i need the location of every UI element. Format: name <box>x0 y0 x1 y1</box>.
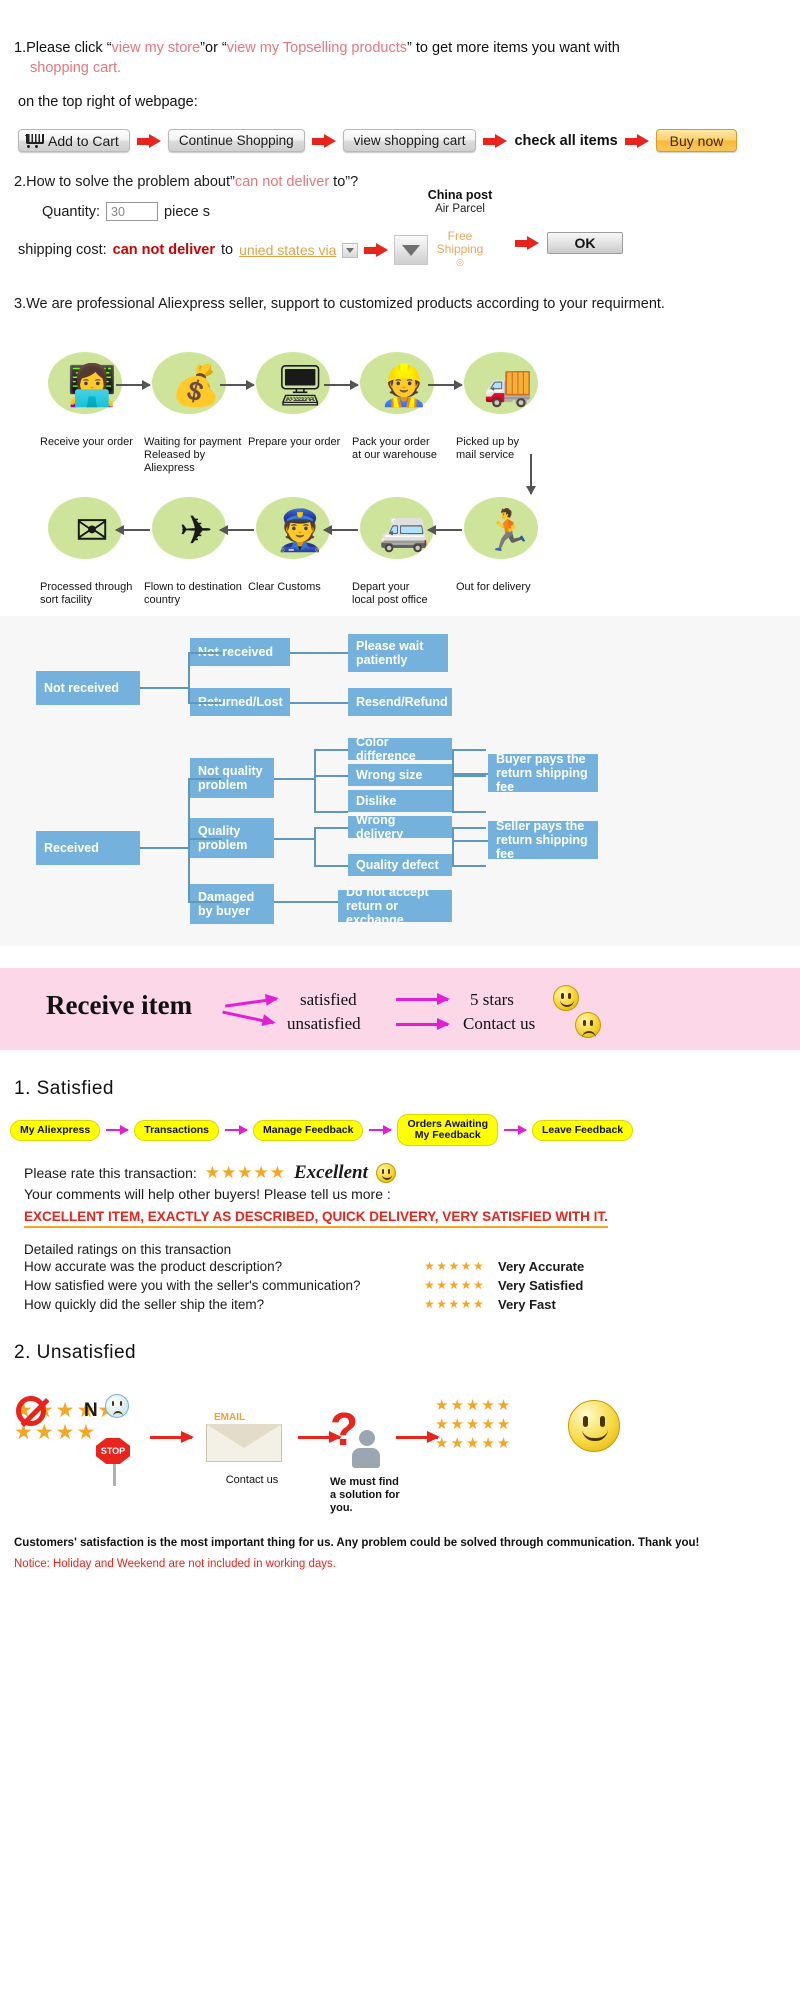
flow-connector <box>314 775 348 777</box>
section-2-number: 2. <box>14 174 26 190</box>
flow-connector <box>188 838 222 840</box>
magenta-arrow-3 <box>396 998 448 1001</box>
feedback-step-chip[interactable]: Transactions <box>134 1120 219 1141</box>
feedback-step-chip[interactable]: Manage Feedback <box>253 1120 363 1141</box>
flow-connector <box>314 827 316 865</box>
contact-us-label: Contact us <box>463 1014 535 1034</box>
flow-connector <box>452 749 486 751</box>
stop-label: STOP <box>96 1438 130 1464</box>
arrow-left-icon <box>428 529 462 531</box>
excellent-smiley-icon <box>376 1163 396 1183</box>
holiday-notice: Notice: Holiday and Weekend are not incl… <box>0 1558 800 1570</box>
process-step-caption: Pack your order at our warehouse <box>352 436 456 462</box>
rating-stars[interactable]: ★★★★★ <box>424 1257 498 1276</box>
process-step-caption: Depart your local post office <box>352 581 456 607</box>
receive-item-banner: Receive item satisfied unsatisfied 5 sta… <box>0 968 800 1050</box>
section-1-line-1: 1.Please click “view my store”or “view m… <box>0 38 800 58</box>
rate-label: Please rate this transaction: <box>24 1165 197 1181</box>
add-to-cart-label: Add to Cart <box>48 133 119 149</box>
solution-caption: We must find a solution for you. <box>330 1476 430 1515</box>
review-text: EXCELLENT ITEM, EXACTLY AS DESCRIBED, QU… <box>24 1209 608 1228</box>
section-1-text-b: ” to get more items you want with <box>407 40 620 56</box>
flow-node-not-received-root: Not received <box>36 671 140 705</box>
rating-question: How accurate was the product description… <box>24 1257 424 1276</box>
process-step-art: 🚐 <box>352 481 456 581</box>
arrow-right-icon <box>220 384 254 386</box>
flow-connector <box>290 702 348 704</box>
email-tab-label: EMAIL <box>214 1412 245 1423</box>
arrow-down-icon <box>526 486 536 495</box>
five-star-grid: ★★★★★ ★★★★★ ★★★★★ <box>435 1396 555 1453</box>
delivery-van-icon: 🚐 <box>379 511 429 551</box>
flow-node-wrong-size: Wrong size <box>348 764 452 786</box>
process-step-art: 👮 <box>248 481 352 581</box>
shipping-cost-label: shipping cost: <box>18 242 107 258</box>
flow-connector <box>140 847 190 849</box>
quantity-input[interactable]: 30 <box>106 202 158 221</box>
flow-connector <box>290 652 348 654</box>
arrow-right-icon <box>116 384 150 386</box>
flow-node-color-difference: Color difference <box>348 738 452 760</box>
section-2-q-pre: How to solve the problem about” <box>26 174 235 190</box>
process-step-caption: Waiting for payment Released by Aliexpre… <box>144 436 248 475</box>
process-step: 🏃Out for delivery <box>456 481 560 607</box>
flow-connector <box>452 827 486 829</box>
big-smiley-icon <box>568 1400 620 1452</box>
arrow-right-icon <box>428 384 462 386</box>
arrow-right-icon-1 <box>137 134 161 148</box>
flow-connector <box>188 652 222 654</box>
red-arrow-to-email <box>150 1436 192 1439</box>
rate-transaction-line: Please rate this transaction: ★★★★★ Exce… <box>24 1162 800 1184</box>
flow-connector <box>274 838 314 840</box>
section-3-text: 3.We are professional Aliexpress seller,… <box>0 296 800 312</box>
rating-label: Very Accurate <box>498 1257 584 1276</box>
satisfied-section: 1. Satisfied My AliexpressTransactionsMa… <box>0 1078 800 1314</box>
flow-connector <box>452 775 486 777</box>
section-2-q-post: to”? <box>329 174 358 190</box>
process-step: ✉Processed through sort facility <box>40 481 144 607</box>
flow-connector <box>274 901 338 903</box>
happy-face-icon <box>553 985 579 1011</box>
comments-label: Your comments will help other buyers! Pl… <box>24 1186 800 1202</box>
banner-title: Receive item <box>46 990 192 1021</box>
feedback-step-chip[interactable]: My Aliexpress <box>10 1120 100 1141</box>
magenta-arrow-2 <box>222 1011 273 1025</box>
flow-connector <box>452 773 488 775</box>
process-step-art: 🚚 <box>456 336 560 436</box>
support-person-icon <box>352 1430 382 1466</box>
quantity-label: Quantity: <box>42 204 100 220</box>
five-stars-label: 5 stars <box>470 990 514 1010</box>
arrow-right-icon-3 <box>483 134 507 148</box>
person-at-computer-icon: 👩‍💻 <box>67 366 117 406</box>
flow-node-please-wait: Please wait patiently <box>348 634 448 672</box>
section-2-delivery-problem: 2.How to solve the problem about”can not… <box>0 174 800 278</box>
view-my-store-link[interactable]: view my store <box>112 40 201 56</box>
process-down-connector <box>530 454 532 494</box>
process-step: 💰Waiting for payment Released by Aliexpr… <box>144 336 248 475</box>
flow-node-seller-pays: Seller pays the return shipping fee <box>488 821 598 859</box>
magenta-arrow-icon <box>504 1129 526 1131</box>
air-parcel-label: Air Parcel <box>418 203 502 215</box>
worried-face-icon <box>105 1394 129 1418</box>
unsatisfied-heading: 2. Unsatisfied <box>0 1342 800 1364</box>
money-bag-icon: 💰 <box>171 366 221 406</box>
flow-node-dislike: Dislike <box>348 790 452 812</box>
flow-node-quality-defect: Quality defect <box>348 854 452 876</box>
rating-label: Very Satisfied <box>498 1276 583 1295</box>
detailed-ratings-list: How accurate was the product description… <box>24 1257 800 1314</box>
process-top-row: 👩‍💻Receive your order💰Waiting for paymen… <box>0 336 800 475</box>
process-step-art: 👷 <box>352 336 456 436</box>
airplane-icon: ✈ <box>179 511 213 551</box>
view-shopping-cart-button[interactable]: view shopping cart <box>343 129 477 152</box>
returns-flowchart: Not receivedNot receivedReturned/LostPle… <box>0 616 800 946</box>
process-step: 🚚Picked up by mail service <box>456 336 560 475</box>
section-1-number: 1. <box>14 40 26 56</box>
flow-node-received-root: Received <box>36 831 140 865</box>
flow-connector <box>188 778 222 780</box>
courier-running-icon: 🏃 <box>483 511 533 551</box>
buy-now-button[interactable]: Buy now <box>656 129 738 152</box>
stop-sign-icon: STOP <box>96 1438 132 1486</box>
process-step-art: 👩‍💻 <box>40 336 144 436</box>
process-step: 👷Pack your order at our warehouse <box>352 336 456 475</box>
arrow-right-icon <box>324 384 358 386</box>
promo-page: 1.Please click “view my store”or “view m… <box>0 0 800 1570</box>
quote-separator: ”or “ <box>200 40 227 56</box>
rating-question: How quickly did the seller ship the item… <box>24 1295 424 1314</box>
mail-truck-icon: 🚚 <box>483 366 533 406</box>
detailed-rating-row: How accurate was the product description… <box>24 1257 800 1276</box>
rating-label: Very Fast <box>498 1295 556 1314</box>
check-all-items-label[interactable]: check all items <box>514 133 617 149</box>
worker-packing-icon: 👷 <box>379 366 429 406</box>
section-3-number: 3. <box>14 296 26 312</box>
arrow-right-icon-4 <box>625 134 649 148</box>
process-step-art: ✈ <box>144 481 248 581</box>
section-2-question: 2.How to solve the problem about”can not… <box>0 174 800 190</box>
section-1-line-3: on the top right of webpage: <box>0 92 800 112</box>
process-step-caption: Out for delivery <box>456 581 560 594</box>
shipping-label: Shipping <box>418 243 502 256</box>
flow-connector <box>452 865 486 867</box>
flow-node-damaged-by-buyer: Damaged by buyer <box>190 884 274 924</box>
arrow-right-icon-2 <box>312 134 336 148</box>
piece-label: piece s <box>164 204 210 220</box>
process-step-caption: Picked up by mail service <box>456 436 560 462</box>
unsatisfied-graphic: ★★★★★ ★★★★ N STOP EMAIL Contact us ? <box>0 1378 800 1528</box>
flow-connector <box>188 778 190 903</box>
magenta-arrow-icon <box>225 1129 247 1131</box>
flow-connector <box>188 652 190 704</box>
flow-connector <box>274 778 314 780</box>
flow-node-no-return: Do not accept return or exchange <box>338 890 452 922</box>
shipping-process-diagram: 👩‍💻Receive your order💰Waiting for paymen… <box>0 336 800 616</box>
china-post-label: China post <box>418 188 502 202</box>
continue-shopping-button[interactable]: Continue Shopping <box>168 129 305 152</box>
email-envelope-icon: EMAIL <box>206 1412 282 1462</box>
magenta-arrow-4 <box>396 1023 448 1026</box>
computer-icon: 🖥 <box>275 366 326 406</box>
contact-us-caption: Contact us <box>212 1474 292 1487</box>
process-step: ✈Flown to destination country <box>144 481 248 607</box>
flow-connector <box>314 827 348 829</box>
process-step-art: ✉ <box>40 481 144 581</box>
process-step-art: 🖥 <box>248 336 352 436</box>
red-arrow-to-stars <box>396 1436 438 1439</box>
chevron-down-icon-small <box>346 248 354 253</box>
arrow-right-icon-5 <box>364 243 388 257</box>
free-shipping-block: Free Shipping ◎ <box>418 230 502 269</box>
flow-connector <box>314 749 348 751</box>
detailed-rating-row: How quickly did the seller ship the item… <box>24 1295 800 1314</box>
flow-node-wrong-delivery: Wrong delivery <box>348 816 452 838</box>
transaction-stars[interactable]: ★★★★★ <box>205 1163 286 1183</box>
flow-connector <box>452 749 454 811</box>
shipping-to-label: to <box>221 242 233 258</box>
flow-connector <box>452 827 454 865</box>
ok-row: OK <box>515 232 623 254</box>
rating-block: Please rate this transaction: ★★★★★ Exce… <box>0 1162 800 1314</box>
process-step-art: 🏃 <box>456 481 560 581</box>
rating-stars[interactable]: ★★★★★ <box>424 1276 498 1295</box>
flow-connector <box>452 811 486 813</box>
quantity-row: Quantity: 30 piece s <box>0 202 800 221</box>
feedback-steps-row: My AliexpressTransactionsManage Feedback… <box>0 1114 800 1146</box>
section-3-body: We are professional Aliexpress seller, s… <box>26 296 665 312</box>
arrow-right-icon-6 <box>515 236 539 250</box>
flow-node-resend-refund: Resend/Refund <box>348 688 452 716</box>
process-step-caption: Processed through sort facility <box>40 581 144 607</box>
section-1-shopping-cart-highlight: shopping cart. <box>0 58 800 78</box>
magenta-arrow-1 <box>225 997 277 1007</box>
process-step: 👩‍💻Receive your order <box>40 336 144 475</box>
flow-connector <box>314 749 316 811</box>
satisfied-heading: 1. Satisfied <box>0 1078 800 1100</box>
info-dot-icon: ◎ <box>418 256 502 269</box>
no-entry-icon <box>16 1396 46 1426</box>
process-step: 👮Clear Customs <box>248 481 352 607</box>
shopping-cart-icon <box>24 133 43 148</box>
flow-connector <box>140 687 190 689</box>
rating-stars[interactable]: ★★★★★ <box>424 1295 498 1314</box>
arrow-left-icon <box>324 529 358 531</box>
can-not-deliver-highlight: can not deliver <box>235 174 329 190</box>
process-step: 🖥Prepare your order <box>248 336 352 475</box>
no-letter-label: N <box>84 1400 98 1422</box>
country-link[interactable]: unied states via <box>239 242 336 258</box>
mail-sorting-icon: ✉ <box>75 511 109 551</box>
view-topselling-link[interactable]: view my Topselling products <box>227 40 407 56</box>
unsatisfied-label: unsatisfied <box>287 1014 361 1034</box>
flow-connector <box>188 901 222 903</box>
section-1-shopping-cart: 1.Please click “view my store”or “view m… <box>0 0 800 152</box>
detailed-ratings-heading: Detailed ratings on this transaction <box>24 1242 800 1257</box>
feedback-step-chip[interactable]: Orders Awaiting My Feedback <box>397 1114 498 1146</box>
flow-connector <box>314 811 348 813</box>
detailed-rating-row: How satisfied were you with the seller's… <box>24 1276 800 1295</box>
section-1-text-a: Please click <box>26 40 107 56</box>
process-step: 🚐Depart your local post office <box>352 481 456 607</box>
feedback-step-chip[interactable]: Leave Feedback <box>532 1120 633 1141</box>
process-step-caption: Receive your order <box>40 436 144 449</box>
cart-flow-row: Add to Cart Continue Shopping view shopp… <box>0 129 800 152</box>
customs-officer-icon: 👮 <box>275 511 325 551</box>
unsatisfied-section: 2. Unsatisfied ★★★★★ ★★★★ N STOP EMAIL C… <box>0 1342 800 1570</box>
china-post-block: China post Air Parcel <box>418 188 502 215</box>
shipping-cost-row: shipping cost: can not deliver to unied … <box>0 235 800 265</box>
flow-connector <box>314 865 348 867</box>
ok-button[interactable]: OK <box>547 232 623 254</box>
process-bottom-row: ✉Processed through sort facility✈Flown t… <box>0 481 800 607</box>
shipping-cannot-deliver: can not deliver <box>113 242 215 258</box>
sad-face-icon <box>575 1012 601 1038</box>
process-step-caption: Clear Customs <box>248 581 352 594</box>
process-step-caption: Prepare your order <box>248 436 352 449</box>
country-dropdown-small[interactable] <box>342 243 358 258</box>
satisfied-label: satisfied <box>300 990 357 1010</box>
magenta-arrow-icon <box>369 1129 391 1131</box>
rating-question: How satisfied were you with the seller's… <box>24 1276 424 1295</box>
process-step-art: 💰 <box>144 336 248 436</box>
flow-connector <box>452 840 488 842</box>
process-step-caption: Flown to destination country <box>144 581 248 607</box>
arrow-left-icon <box>220 529 254 531</box>
flow-node-buyer-pays: Buyer pays the return shipping fee <box>488 754 598 792</box>
magenta-arrow-icon <box>106 1129 128 1131</box>
excellent-label: Excellent <box>294 1162 368 1184</box>
satisfaction-footnote: Customers' satisfaction is the most impo… <box>0 1536 800 1551</box>
flow-connector <box>188 702 222 704</box>
arrow-left-icon <box>116 529 150 531</box>
add-to-cart-button[interactable]: Add to Cart <box>18 129 130 152</box>
